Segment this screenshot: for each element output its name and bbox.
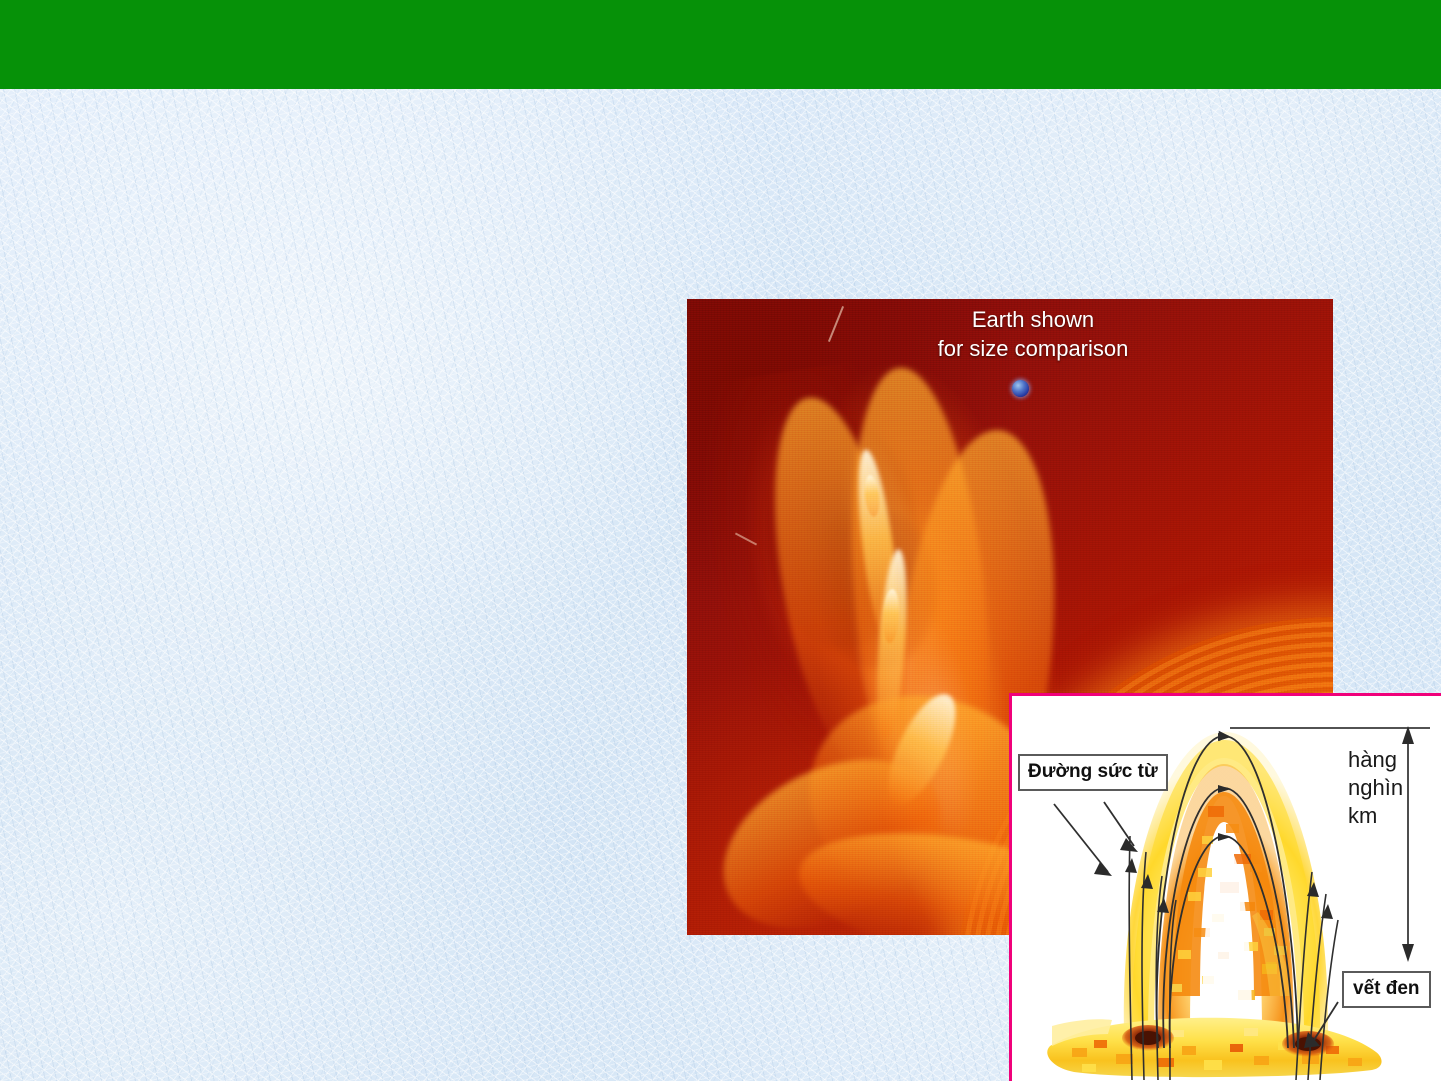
- label-height-line-1: hàng: [1348, 746, 1403, 774]
- header-bar: [0, 0, 1441, 89]
- label-loop-height: hàng nghìn km: [1348, 746, 1403, 830]
- label-height-line-3: km: [1348, 802, 1403, 830]
- caption-line-1: Earth shown: [883, 305, 1183, 334]
- earth-scale-marker: [1012, 380, 1029, 397]
- label-magnetic-field-lines: Đường sức từ: [1018, 754, 1168, 791]
- caption-line-2: for size comparison: [883, 334, 1183, 363]
- sunspot-magnetic-loop-diagram: Đường sức từ hàng nghìn km vết đen: [1009, 693, 1441, 1081]
- label-sunspot: vết đen: [1342, 971, 1431, 1008]
- slide-canvas: Earth shown for size comparison: [0, 0, 1441, 1081]
- label-height-line-2: nghìn: [1348, 774, 1403, 802]
- photo-caption: Earth shown for size comparison: [883, 305, 1183, 363]
